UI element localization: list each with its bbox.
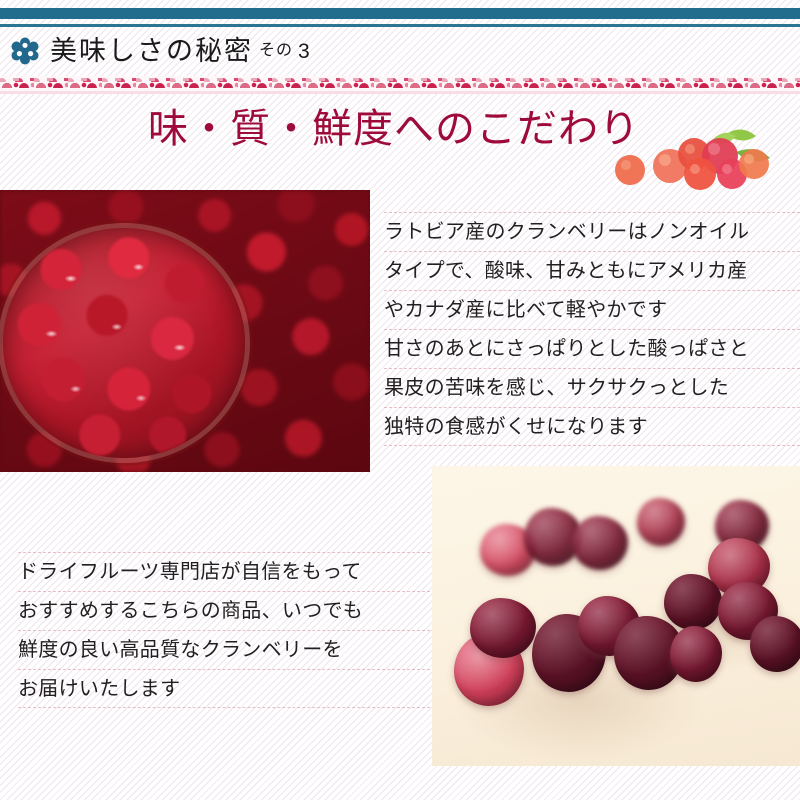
- dried-berry: [750, 616, 800, 672]
- top-accent-bar-thin: [0, 24, 800, 27]
- dried-berry: [664, 574, 722, 630]
- text-line: ラトビア産のクランベリーはノンオイル: [384, 212, 800, 251]
- dried-berry: [670, 626, 722, 682]
- dried-berry: [470, 598, 536, 658]
- description-text-left: ドライフルーツ専門店が自信をもって おすすめするこちらの商品、いつでも 鮮度の良…: [0, 552, 430, 708]
- product-description-page: 美味しさの秘密 その 3: [0, 0, 800, 800]
- glass-bowl: [3, 228, 245, 458]
- text-line: タイプで、酸味、甘みともにアメリカ産: [384, 251, 800, 290]
- dried-berry: [572, 516, 628, 570]
- fresh-cranberries-in-glass-bowl-photo: [0, 190, 370, 472]
- text-line: 独特の食感がくせになります: [384, 407, 800, 446]
- decorative-pattern-band: [0, 76, 800, 94]
- text-line: 甘さのあとにさっぱりとした酸っぱさと: [384, 329, 800, 368]
- text-line: 果皮の苦味を感じ、サクサクっとした: [384, 368, 800, 407]
- text-line: おすすめするこちらの商品、いつでも: [18, 591, 430, 630]
- top-accent-bar-thick: [0, 8, 800, 19]
- header-subtitle: その: [259, 43, 293, 59]
- flower-rosette-icon: [10, 36, 40, 66]
- dried-berry: [637, 498, 685, 546]
- description-text-right: ラトビア産のクランベリーはノンオイル タイプで、酸味、甘みともにアメリカ産 やカ…: [384, 212, 800, 446]
- section-header: 美味しさの秘密 その 3: [0, 28, 800, 74]
- header-number: 3: [298, 41, 310, 62]
- dried-cranberries-photo: [432, 466, 800, 766]
- text-line: 鮮度の良い高品質なクランベリーを: [18, 630, 430, 669]
- header-title: 美味しさの秘密: [50, 38, 253, 65]
- text-line: やカナダ産に比べて軽やかです: [384, 290, 800, 329]
- page-title: 味・質・鮮度へのこだわり: [148, 104, 640, 154]
- berry-highlights: [3, 228, 245, 458]
- text-line: お届けいたします: [18, 669, 430, 708]
- text-line: ドライフルーツ専門店が自信をもって: [18, 552, 430, 591]
- cranberry-watercolor-illustration: [608, 118, 798, 190]
